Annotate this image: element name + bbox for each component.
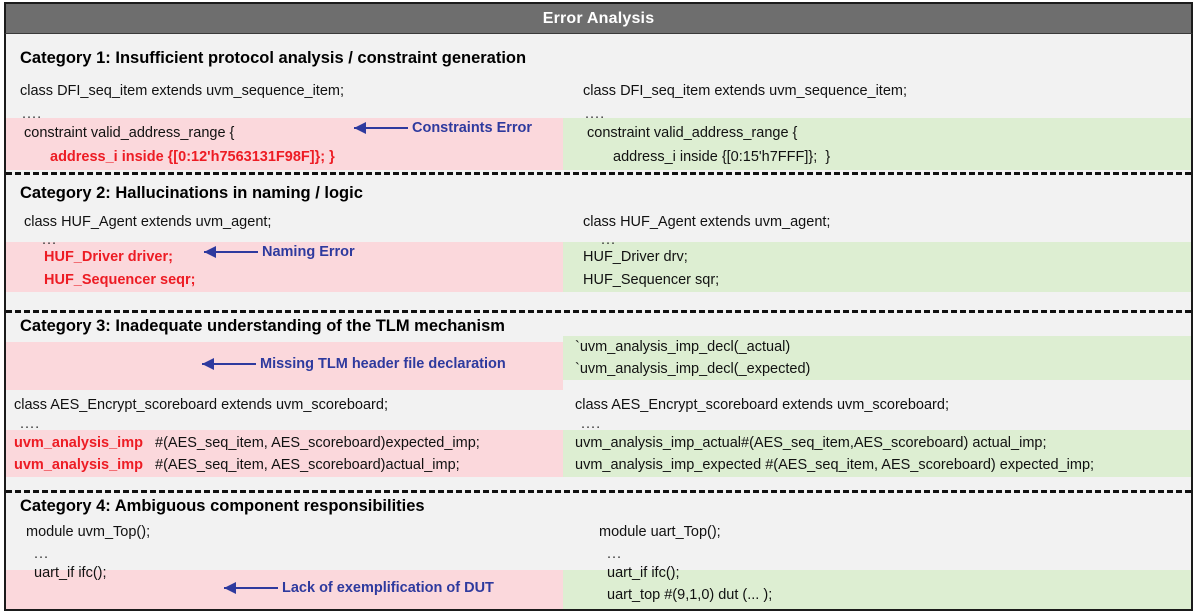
category-4-right-line3: uart_top #(9,1,0) dut (... );: [607, 588, 772, 603]
category-4-title: Category 4: Ambiguous component responsi…: [20, 497, 425, 516]
left-arrow-icon: [224, 582, 278, 594]
category-3-right-dots: ....: [581, 416, 601, 432]
category-4-left-line2: uart_if ifc();: [34, 566, 107, 581]
category-1-left-line1: class DFI_seq_item extends uvm_sequence_…: [20, 84, 344, 99]
category-3-right-line3: uvm_analysis_imp_expected #(AES_seq_item…: [575, 458, 1094, 473]
category-3-title: Category 3: Inadequate understanding of …: [20, 317, 505, 336]
figure-body: Category 1: Insufficient protocol analys…: [6, 34, 1191, 609]
category-2-right-line1: class HUF_Agent extends uvm_agent;: [583, 215, 830, 230]
category-4-annotation-label: Lack of exemplification of DUT: [282, 580, 494, 596]
left-arrow-icon: [204, 246, 258, 258]
category-4-right-line2: uart_if ifc();: [607, 566, 680, 581]
category-3-left-line1: class AES_Encrypt_scoreboard extends uvm…: [14, 398, 388, 413]
left-arrow-icon: [354, 122, 408, 134]
category-2-left-dots: ...: [42, 232, 57, 248]
category-2-right-dots: ...: [601, 232, 616, 248]
category-1-left-line2: constraint valid_address_range {: [24, 126, 234, 141]
category-4-annotation: Lack of exemplification of DUT: [224, 580, 494, 596]
category-1-annotation-label: Constraints Error: [412, 120, 532, 136]
category-1-left-line3: address_i inside {[0:12'h7563131F98F]}; …: [50, 150, 335, 165]
category-1-right-line2: constraint valid_address_range {: [587, 126, 797, 141]
category-3-right-decl1: `uvm_analysis_imp_decl(_actual): [575, 340, 790, 355]
category-3-left-line3-rest: #(AES_seq_item, AES_scoreboard)actual_im…: [155, 458, 460, 473]
category-3-right-decl2: `uvm_analysis_imp_decl(_expected): [575, 362, 810, 377]
category-3-left-dots: ....: [20, 416, 40, 432]
category-3-annotation-label: Missing TLM header file declaration: [260, 356, 506, 372]
category-1-annotation: Constraints Error: [354, 120, 532, 136]
category-1-left-dots: ....: [22, 106, 42, 122]
category-3-left-line2-rest: #(AES_seq_item, AES_scoreboard)expected_…: [155, 436, 480, 451]
category-4-left-line1: module uvm_Top();: [26, 525, 150, 540]
category-1-right-dots: ....: [585, 106, 605, 122]
left-arrow-icon: [202, 358, 256, 370]
category-4-section: Category 4: Ambiguous component responsi…: [6, 492, 1191, 609]
category-2-right-line3: HUF_Sequencer sqr;: [583, 273, 719, 288]
category-3-left-line2-red: uvm_analysis_imp: [14, 436, 143, 451]
category-3-left-line3-red: uvm_analysis_imp: [14, 458, 143, 473]
category-4-right-line1: module uart_Top();: [599, 525, 721, 540]
figure-title-bar: Error Analysis: [4, 2, 1193, 34]
category-1-right-line1: class DFI_seq_item extends uvm_sequence_…: [583, 84, 907, 99]
category-4-right-dots: ...: [607, 546, 622, 562]
category-4-left-dots: ...: [34, 546, 49, 562]
category-1-section: Category 1: Insufficient protocol analys…: [6, 34, 1191, 172]
category-2-left-line1: class HUF_Agent extends uvm_agent;: [24, 215, 271, 230]
category-3-right-line1: class AES_Encrypt_scoreboard extends uvm…: [575, 398, 949, 413]
category-2-title: Category 2: Hallucinations in naming / l…: [20, 184, 363, 203]
category-3-section: Category 3: Inadequate understanding of …: [6, 312, 1191, 490]
category-2-annotation-label: Naming Error: [262, 244, 355, 260]
error-analysis-figure: Error Analysis Category 1: Insufficient …: [0, 0, 1200, 613]
category-2-right-line2: HUF_Driver drv;: [583, 250, 688, 265]
category-3-right-line2: uvm_analysis_imp_actual#(AES_seq_item,AE…: [575, 436, 1047, 451]
category-1-right-line3: address_i inside {[0:15'h7FFF]}; }: [613, 150, 830, 165]
page-title: Error Analysis: [543, 10, 655, 28]
category-2-left-line3: HUF_Sequencer seqr;: [44, 273, 196, 288]
category-2-annotation: Naming Error: [204, 244, 355, 260]
category-2-section: Category 2: Hallucinations in naming / l…: [6, 174, 1191, 310]
category-3-annotation: Missing TLM header file declaration: [202, 356, 506, 372]
category-1-title: Category 1: Insufficient protocol analys…: [20, 49, 526, 68]
category-2-left-line2: HUF_Driver driver;: [44, 250, 173, 265]
